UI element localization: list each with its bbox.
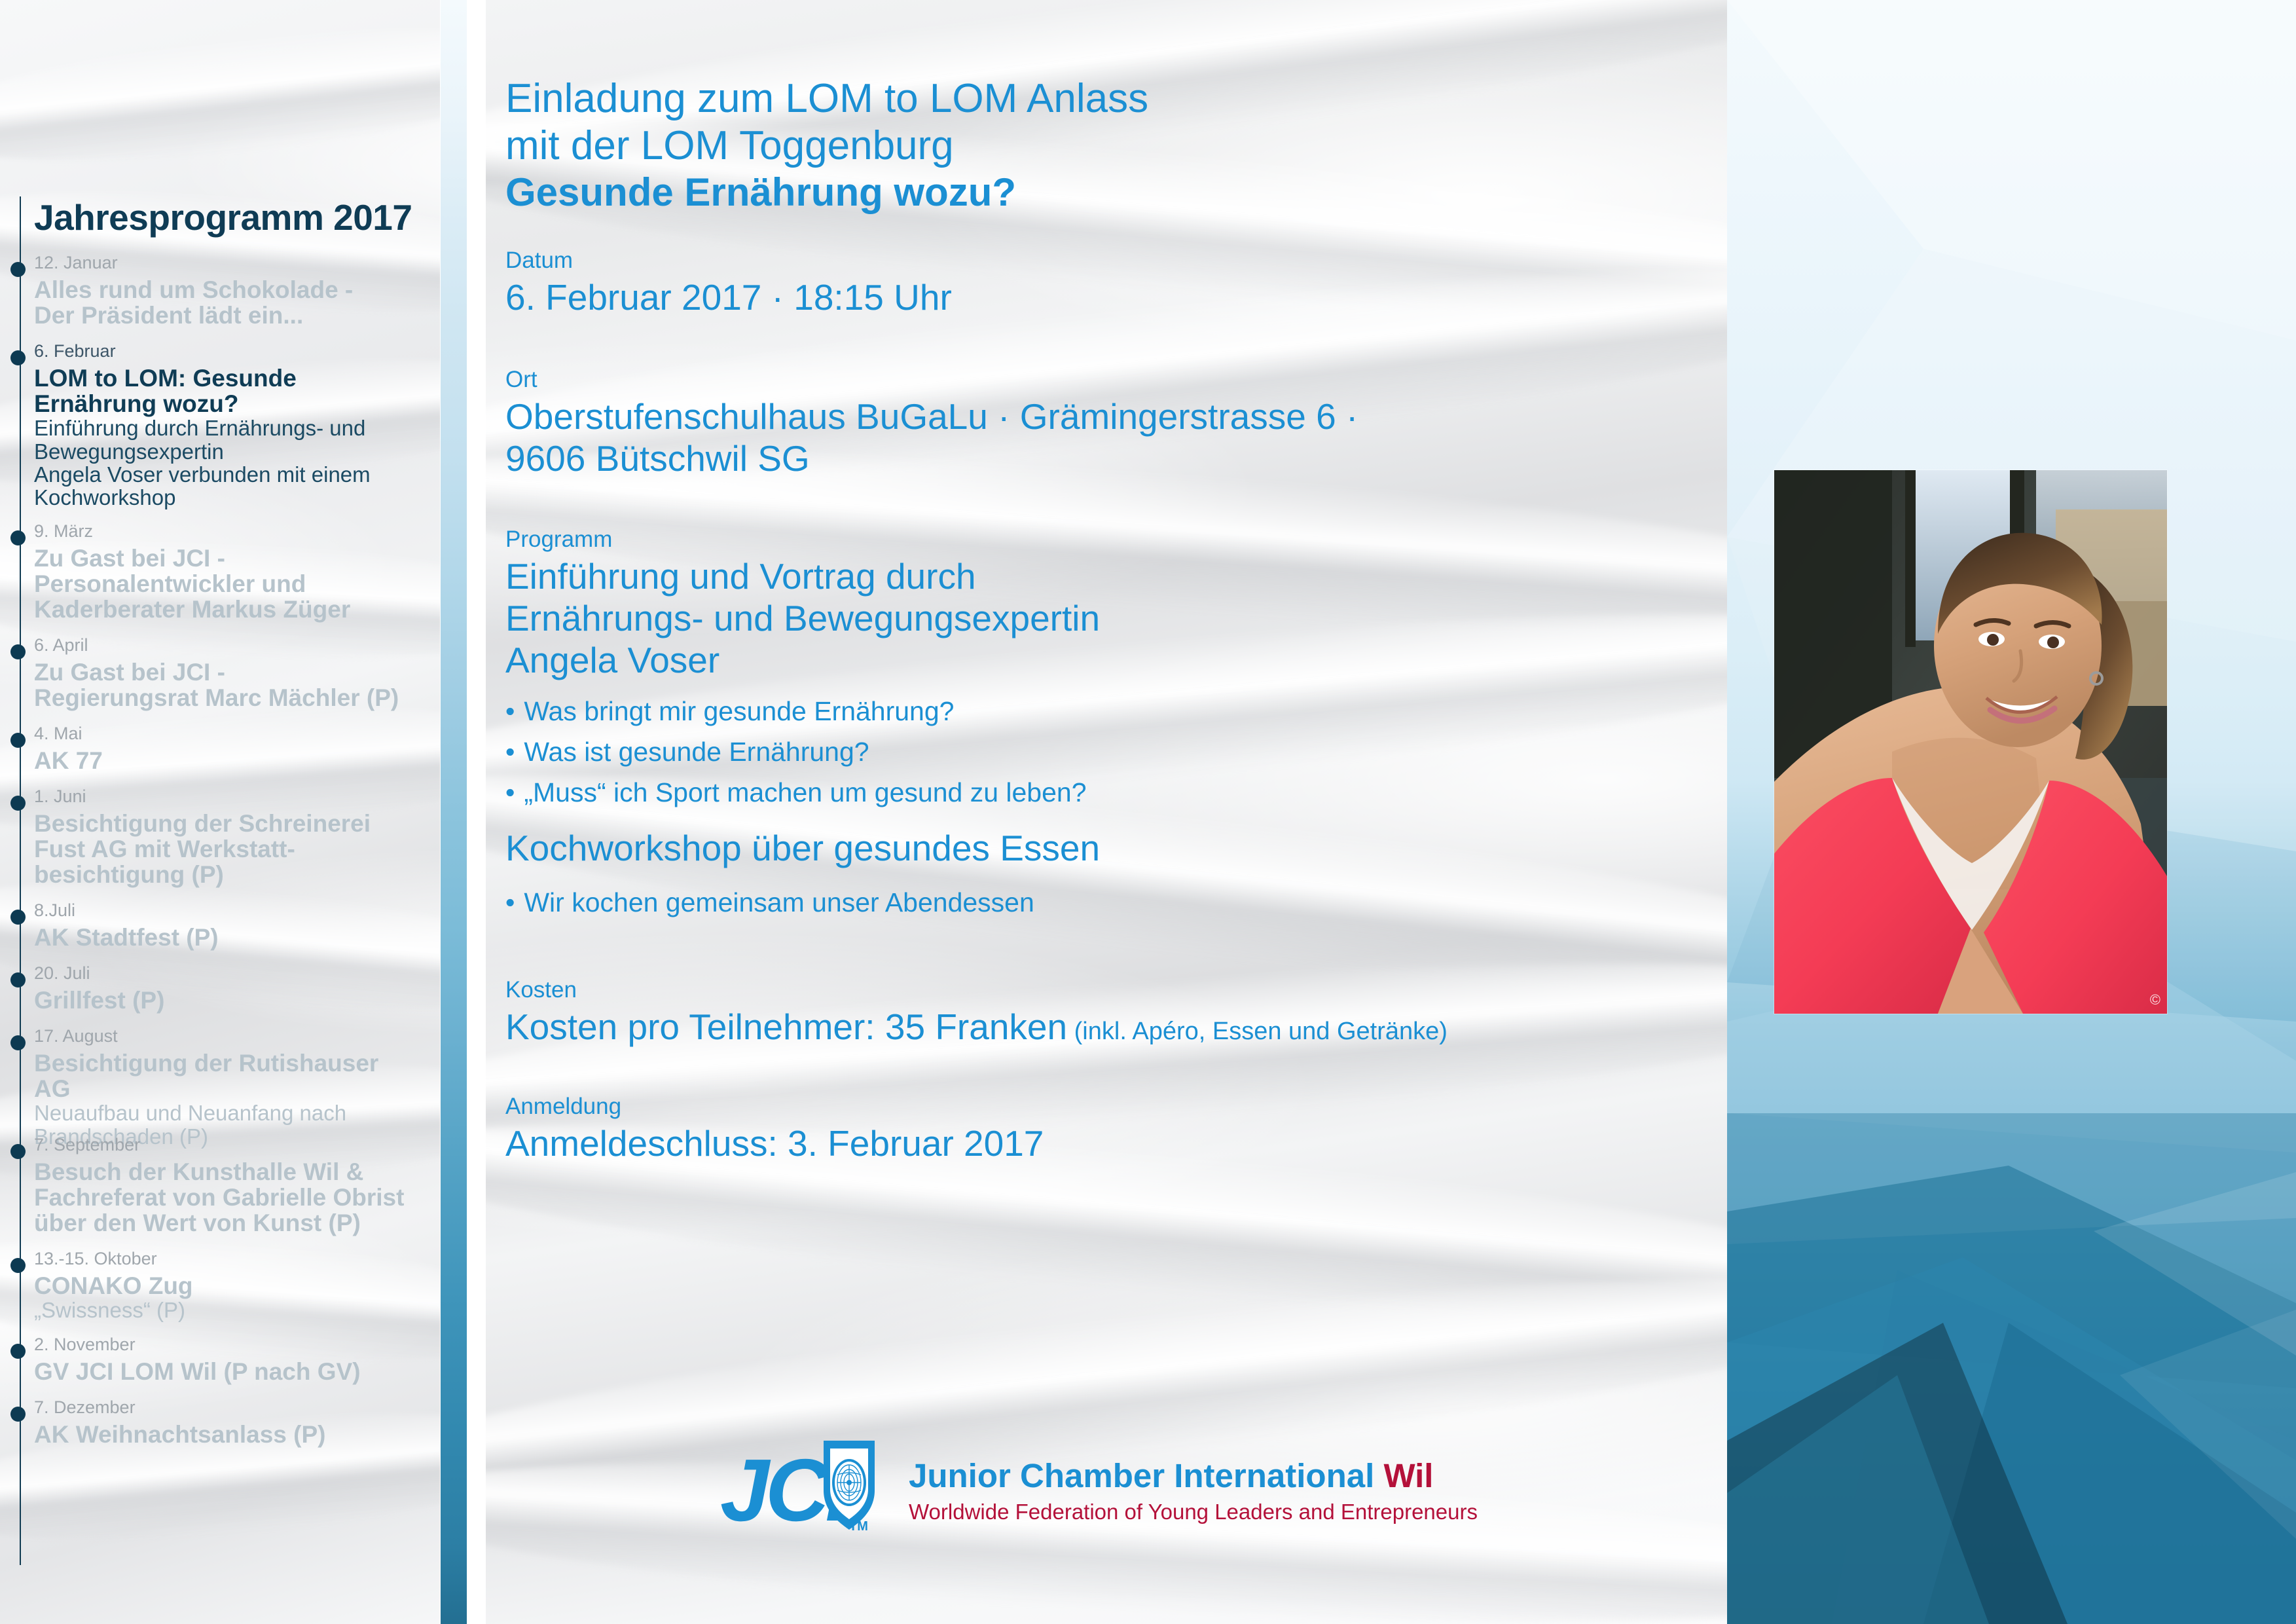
event-title: AK Weihnachtsanlass (P) — [34, 1422, 414, 1447]
event-title-line: Besichtigung der Schreinerei — [34, 811, 414, 836]
event-item[interactable]: 6. AprilZu Gast bei JCI -Regierungsrat M… — [34, 637, 414, 710]
event-title-line: GV JCI LOM Wil (P nach GV) — [34, 1359, 414, 1384]
kosten-note: (inkl. Apéro, Essen und Getränke) — [1074, 1018, 1448, 1045]
event-title: Grillfest (P) — [34, 987, 414, 1013]
event-title: Zu Gast bei JCI -Personalentwickler undK… — [34, 545, 414, 623]
timeline-bullet-icon — [10, 644, 26, 659]
event-date: 4. Mai — [34, 725, 414, 743]
headline-line-1: Einladung zum LOM to LOM Anlass — [505, 79, 1148, 119]
event-title-line: Zu Gast bei JCI - — [34, 545, 414, 571]
programm-line-1: Einführung und Vortrag durch — [505, 557, 976, 597]
event-item[interactable]: 8.JuliAK Stadtfest (P) — [34, 902, 414, 950]
event-item[interactable]: 7. SeptemberBesuch der Kunsthalle Wil &F… — [34, 1136, 414, 1236]
programm-bullet: Was bringt mir gesunde Ernährung? — [505, 698, 954, 725]
event-item[interactable]: 7. DezemberAK Weihnachtsanlass (P) — [34, 1399, 414, 1447]
event-title-line: Besichtigung der Rutishauser AG — [34, 1050, 414, 1101]
event-title: Alles rund um Schokolade -Der Präsident … — [34, 277, 414, 328]
event-item[interactable]: 1. JuniBesichtigung der SchreinereiFust … — [34, 788, 414, 888]
timeline-bullet-icon — [10, 530, 26, 545]
event-title-line: Besuch der Kunsthalle Wil & — [34, 1159, 414, 1185]
event-date: 7. Dezember — [34, 1399, 414, 1416]
headline-line-2: mit der LOM Toggenburg — [505, 126, 954, 166]
event-title-line: CONAKO Zug — [34, 1273, 414, 1299]
programm-bullet: Was ist gesunde Ernährung? — [505, 739, 869, 766]
event-title-line: LOM to LOM: Gesunde — [34, 365, 414, 391]
event-date: 6. April — [34, 637, 414, 654]
event-title-line: Fachreferat von Gabrielle Obrist — [34, 1185, 414, 1210]
event-date: 8.Juli — [34, 902, 414, 919]
copyright-symbol: © — [2150, 991, 2160, 1008]
event-title: AK 77 — [34, 748, 414, 773]
event-item[interactable]: 20. JuliGrillfest (P) — [34, 965, 414, 1013]
anmeldung-value: Anmeldeschluss: 3. Februar 2017 — [505, 1124, 1044, 1164]
event-title-line: AK Weihnachtsanlass (P) — [34, 1422, 414, 1447]
logo-name-city: Wil — [1383, 1457, 1433, 1494]
event-subtitle-line: Einführung durch Ernährungs- und — [34, 416, 414, 439]
event-subtitle-line: Kochworkshop — [34, 486, 414, 509]
jci-shield-icon — [820, 1438, 879, 1531]
event-title-line: Zu Gast bei JCI - — [34, 659, 414, 685]
timeline-bullet-icon — [10, 1407, 26, 1422]
headline-line-3: Gesunde Ernährung wozu? — [505, 173, 1016, 212]
event-date: 20. Juli — [34, 965, 414, 982]
event-subtitle-line: „Swissness“ (P) — [34, 1299, 414, 1321]
photo-illustration — [1774, 470, 2167, 1014]
event-title-line: Fust AG mit Werkstatt- — [34, 836, 414, 862]
event-title: GV JCI LOM Wil (P nach GV) — [34, 1359, 414, 1384]
event-title: Besichtigung der SchreinereiFust AG mit … — [34, 811, 414, 888]
event-item[interactable]: 13.-15. OktoberCONAKO Zug„Swissness“ (P) — [34, 1250, 414, 1322]
event-date: 7. September — [34, 1136, 414, 1154]
sidebar-panel: Jahresprogramm 2017 12. JanuarAlles rund… — [0, 0, 440, 1624]
event-item[interactable]: 2. NovemberGV JCI LOM Wil (P nach GV) — [34, 1336, 414, 1384]
speaker-photo: © — [1774, 470, 2167, 1014]
event-title-line: Der Präsident lädt ein... — [34, 303, 414, 328]
event-title: AK Stadtfest (P) — [34, 925, 414, 950]
event-date: 17. August — [34, 1027, 414, 1045]
event-date: 13.-15. Oktober — [34, 1250, 414, 1268]
ort-line-2: 9606 Bütschwil SG — [505, 439, 810, 479]
programm-line-2: Ernährungs- und Bewegungsexpertin — [505, 599, 1100, 639]
timeline-bullet-icon — [10, 350, 26, 365]
event-title: Besuch der Kunsthalle Wil &Fachreferat v… — [34, 1159, 414, 1236]
programm-bullet: „Muss“ ich Sport machen um gesund zu leb… — [505, 779, 1087, 806]
logo-name: Junior Chamber International Wil — [909, 1459, 1433, 1492]
logo-tagline: Worldwide Federation of Young Leaders an… — [909, 1501, 1478, 1522]
event-item[interactable]: 12. JanuarAlles rund um Schokolade -Der … — [34, 254, 414, 328]
kosten-label: Kosten — [505, 978, 577, 1001]
timeline-bullet-icon — [10, 262, 26, 277]
event-title-line: Kaderberater Markus Züger — [34, 597, 414, 622]
trademark-symbol: TM — [849, 1519, 868, 1534]
event-date: 6. Februar — [34, 342, 414, 360]
datum-value: 6. Februar 2017 · 18:15 Uhr — [505, 278, 952, 318]
event-date: 12. Januar — [34, 254, 414, 272]
event-title-line: AK Stadtfest (P) — [34, 925, 414, 950]
anmeldung-label: Anmeldung — [505, 1095, 621, 1118]
event-title-line: AK 77 — [34, 748, 414, 773]
programm-line-3: Angela Voser — [505, 640, 720, 681]
event-item[interactable]: 4. MaiAK 77 — [34, 725, 414, 773]
logo-name-main: Junior Chamber International — [909, 1457, 1383, 1494]
jci-logo: JCI TM Junior Chamber International Wil … — [720, 1451, 1565, 1536]
ort-line-1: Oberstufenschulhaus BuGaLu · Grämingerst… — [505, 397, 1358, 437]
workshop-heading: Kochworkshop über gesundes Essen — [505, 830, 1100, 866]
ort-label: Ort — [505, 368, 538, 391]
kosten-value: Kosten pro Teilnehmer: 35 Franken — [505, 1006, 1067, 1047]
event-title-line: Personalentwickler und — [34, 571, 414, 597]
event-title: Zu Gast bei JCI -Regierungsrat Marc Mäch… — [34, 659, 414, 710]
event-title: CONAKO Zug — [34, 1273, 414, 1299]
datum-label: Datum — [505, 249, 573, 272]
event-title: LOM to LOM: GesundeErnährung wozu? — [34, 365, 414, 416]
timeline-bullet-icon — [10, 1035, 26, 1050]
timeline-bullet-icon — [10, 1258, 26, 1273]
event-title-line: über den Wert von Kunst (P) — [34, 1210, 414, 1236]
main-panel: Einladung zum LOM to LOM Anlass mit der … — [486, 0, 1727, 1624]
event-title-line: Ernährung wozu? — [34, 391, 414, 416]
event-title: Besichtigung der Rutishauser AG — [34, 1050, 414, 1101]
event-item[interactable]: 17. AugustBesichtigung der Rutishauser A… — [34, 1027, 414, 1148]
event-title-line: Grillfest (P) — [34, 987, 414, 1013]
event-item[interactable]: 9. MärzZu Gast bei JCI -Personalentwickl… — [34, 523, 414, 623]
event-date: 2. November — [34, 1336, 414, 1354]
event-subtitle-line: Bewegungsexpertin — [34, 440, 414, 463]
event-subtitle-line: Angela Voser verbunden mit einem — [34, 463, 414, 486]
event-subtitle: „Swissness“ (P) — [34, 1299, 414, 1321]
timeline-bullet-icon — [10, 796, 26, 811]
event-subtitle-line: Neuaufbau und Neuanfang nach — [34, 1101, 414, 1124]
event-subtitle: Einführung durch Ernährungs- undBewegung… — [34, 416, 414, 509]
timeline-bullet-icon — [10, 910, 26, 925]
event-title-line: Alles rund um Schokolade - — [34, 277, 414, 303]
timeline-bullet-icon — [10, 972, 26, 987]
sidebar-title: Jahresprogramm 2017 — [34, 196, 427, 238]
event-title-line: besichtigung (P) — [34, 862, 414, 887]
accent-strip — [441, 0, 467, 1624]
timeline-bullet-icon — [10, 1344, 26, 1359]
event-date: 9. März — [34, 523, 414, 540]
timeline-bullet-icon — [10, 733, 26, 748]
workshop-bullet: Wir kochen gemeinsam unser Abendessen — [505, 889, 1034, 916]
event-title-line: Regierungsrat Marc Mächler (P) — [34, 685, 414, 710]
event-item[interactable]: 6. FebruarLOM to LOM: GesundeErnährung w… — [34, 342, 414, 509]
event-date: 1. Juni — [34, 788, 414, 805]
kosten-line: Kosten pro Teilnehmer: 35 Franken (inkl.… — [505, 1007, 1448, 1048]
programm-label: Programm — [505, 528, 612, 551]
timeline-bullet-icon — [10, 1144, 26, 1159]
